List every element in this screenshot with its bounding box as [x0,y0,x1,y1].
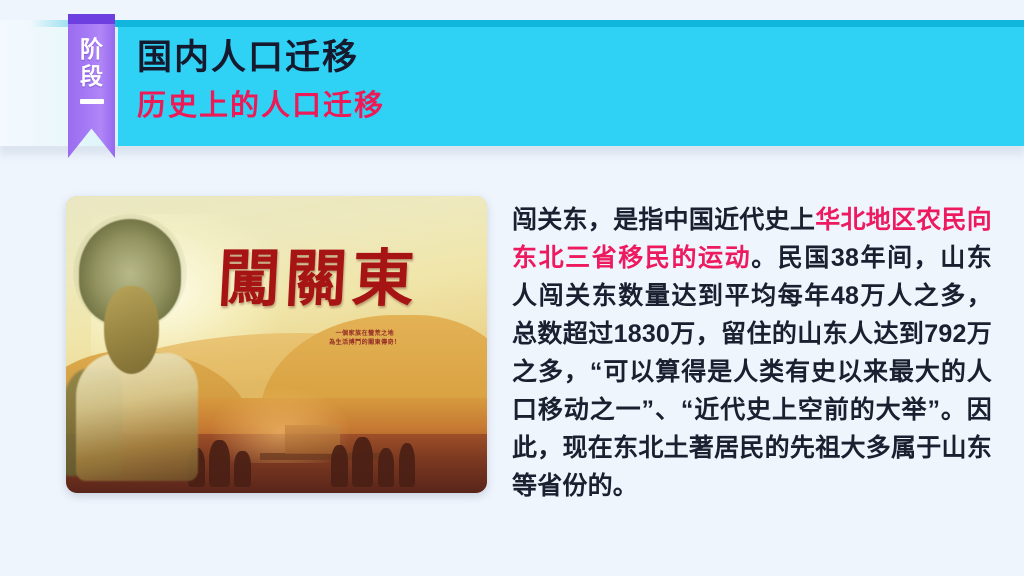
poster-figure [331,445,348,487]
slide-root: 阶 段 国内人口迁移 历史上的人口迁移 闖 [0,0,1024,576]
banner-top-strip [118,20,1024,27]
ribbon-char-2: 段 [68,63,115,90]
poster-figure [234,451,251,487]
poster-tagline-line-1: 一個家族在蠻荒之地 [289,330,441,339]
poster-tagline: 一個家族在蠻荒之地 為生活搏鬥的關東傳奇！ [289,330,441,348]
poster-title-calligraphy: 闖 關 東 [218,220,479,339]
poster-figure [209,440,230,488]
ribbon-number-dash-icon [80,99,104,104]
poster-portrait [70,214,209,481]
poster-title-char-1: 闖 [216,248,281,310]
page-subtitle: 历史上的人口迁移 [137,89,385,123]
paragraph-segment: 闯关东，是指中国近代史上 [512,206,815,234]
poster-figure [352,437,373,487]
poster-tagline-line-2: 為生活搏鬥的關東傳奇！ [289,339,441,348]
poster-title-char-2: 關 [283,248,348,310]
body-paragraph: 闯关东，是指中国近代史上华北地区农民向东北三省移民的运动。民国38年间，山东人闯… [512,201,992,505]
paragraph-segment: 。民国38年间，山东人闯关东数量达到平均每年48万人之多，总数超过1830万，留… [512,244,992,500]
poster-cart [285,425,340,455]
ribbon-char-1: 阶 [68,36,115,63]
poster-title-char-3: 東 [350,248,415,310]
portrait-face [104,286,160,374]
stage-ribbon: 阶 段 [68,14,115,158]
poster-figure [378,448,395,487]
ribbon-label: 阶 段 [68,36,115,104]
ribbon-cap [68,14,115,25]
banner-shadow [0,144,1024,160]
poster-figure [399,443,416,488]
page-title: 国内人口迁移 [137,38,359,78]
movie-poster-image: 闖 關 東 一個家族在蠻荒之地 為生活搏鬥的關東傳奇！ [66,196,487,493]
